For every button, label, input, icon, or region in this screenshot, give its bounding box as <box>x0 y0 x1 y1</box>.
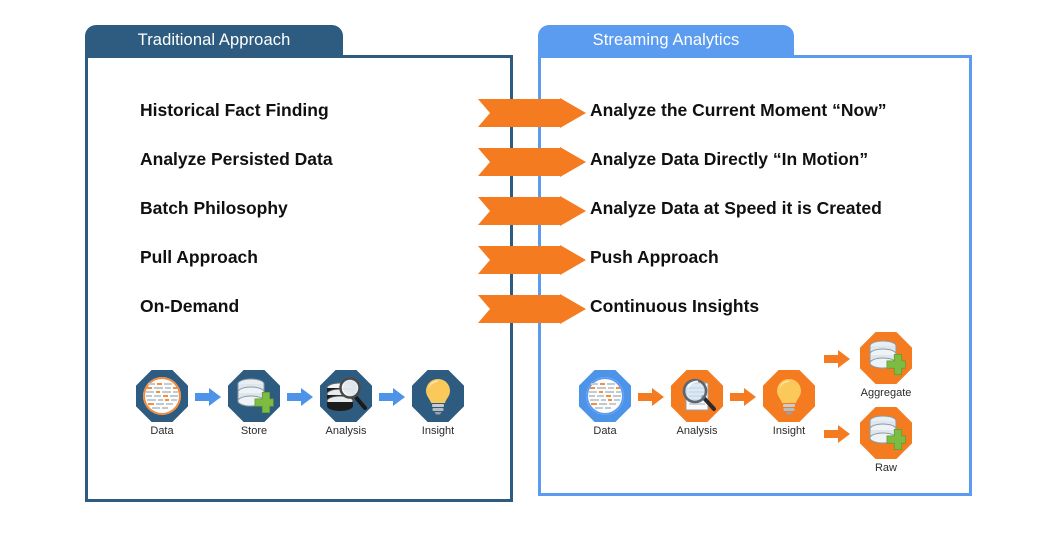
streaming-item-1: Analyze Data Directly “In Motion” <box>590 151 868 169</box>
orange-arrow-icon <box>638 388 664 406</box>
flow-node-label: Insight <box>411 425 465 437</box>
orange-arrow-icon <box>824 425 850 443</box>
orange-arrow-icon <box>824 350 850 368</box>
orange-chevron-arrow-icon <box>478 147 586 177</box>
flow-node-label: Insight <box>762 425 816 437</box>
octagon-shape <box>412 370 464 422</box>
traditional-item-1: Analyze Persisted Data <box>140 151 333 169</box>
blue-arrow-icon <box>195 388 221 406</box>
flow-node-label: Analysis <box>319 425 373 437</box>
streaming-item-0: Analyze the Current Moment “Now” <box>590 102 887 120</box>
streaming-item-2: Analyze Data at Speed it is Created <box>590 200 882 218</box>
flow-node-data[interactable]: Data <box>578 370 632 437</box>
traditional-item-3: Pull Approach <box>140 249 258 267</box>
orange-chevron-arrow-icon <box>478 196 586 226</box>
transition-arrow-0 <box>478 98 586 128</box>
flow-branch-aggregate[interactable]: Aggregate <box>856 332 916 399</box>
flow-node-insight[interactable]: Insight <box>411 370 465 437</box>
document-magnifier-icon <box>676 376 718 416</box>
flow-node-data[interactable]: Data <box>135 370 189 437</box>
flow-node-label: Store <box>227 425 281 437</box>
octagon-shape <box>671 370 723 422</box>
flow-node-analysis[interactable]: Analysis <box>319 370 373 437</box>
flow-branch-raw[interactable]: Raw <box>856 407 916 474</box>
flow-streaming: Data <box>578 370 948 490</box>
octagon-shape <box>320 370 372 422</box>
transition-arrow-1 <box>478 147 586 177</box>
blue-arrow-icon <box>379 388 405 406</box>
flow-traditional: Data <box>135 370 485 450</box>
orange-chevron-arrow-icon <box>478 294 586 324</box>
data-disc-icon <box>586 377 624 415</box>
orange-arrow-icon <box>730 388 756 406</box>
octagon-shape <box>136 370 188 422</box>
panel-tab-streaming[interactable]: Streaming Analytics <box>538 25 794 57</box>
octagon-shape <box>860 332 912 384</box>
transition-arrow-2 <box>478 196 586 226</box>
database-plus-icon <box>233 376 275 416</box>
transition-arrow-4 <box>478 294 586 324</box>
database-plus-icon <box>865 338 907 378</box>
lightbulb-icon <box>423 376 453 416</box>
flow-branch-label: Aggregate <box>856 387 916 399</box>
panel-tab-traditional[interactable]: Traditional Approach <box>85 25 343 57</box>
flow-node-store[interactable]: Store <box>227 370 281 437</box>
database-magnifier-icon <box>324 376 368 416</box>
transition-arrow-3 <box>478 245 586 275</box>
octagon-shape <box>860 407 912 459</box>
octagon-shape <box>579 370 631 422</box>
orange-chevron-arrow-icon <box>478 245 586 275</box>
traditional-item-4: On-Demand <box>140 298 239 316</box>
streaming-item-3: Push Approach <box>590 249 719 267</box>
database-plus-icon <box>865 413 907 453</box>
octagon-shape <box>763 370 815 422</box>
orange-chevron-arrow-icon <box>478 98 586 128</box>
flow-node-label: Analysis <box>670 425 724 437</box>
blue-arrow-icon <box>287 388 313 406</box>
flow-node-label: Data <box>578 425 632 437</box>
traditional-item-2: Batch Philosophy <box>140 200 288 218</box>
data-disc-icon <box>143 377 181 415</box>
octagon-shape <box>228 370 280 422</box>
streaming-item-4: Continuous Insights <box>590 298 759 316</box>
panel-title-streaming: Streaming Analytics <box>593 32 740 49</box>
flow-node-label: Data <box>135 425 189 437</box>
lightbulb-icon <box>774 376 804 416</box>
flow-node-analysis[interactable]: Analysis <box>670 370 724 437</box>
panel-title-traditional: Traditional Approach <box>138 32 291 49</box>
flow-node-insight[interactable]: Insight <box>762 370 816 437</box>
slide-canvas: Traditional Approach Streaming Analytics… <box>0 0 1057 534</box>
traditional-item-0: Historical Fact Finding <box>140 102 329 120</box>
flow-branch-label: Raw <box>856 462 916 474</box>
